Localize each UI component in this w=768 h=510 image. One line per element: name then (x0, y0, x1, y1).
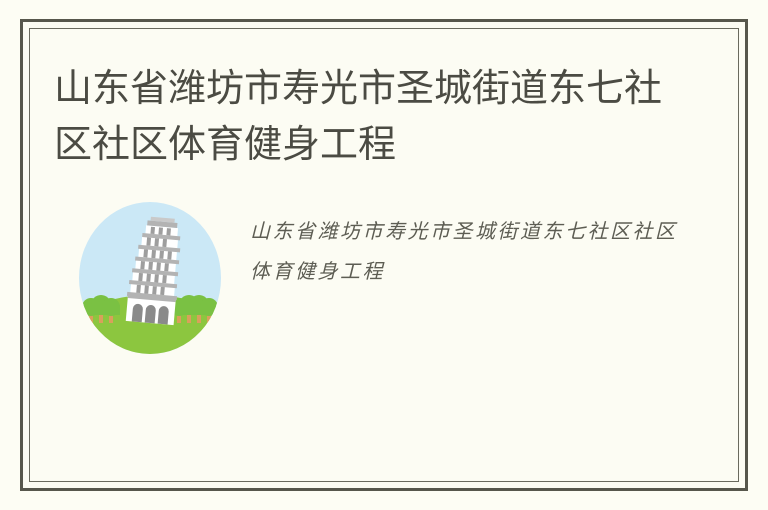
page-root: 山东省潍坊市寿光市圣城街道东七社区社区体育健身工程 (0, 0, 768, 510)
page-title: 山东省潍坊市寿光市圣城街道东七社区社区体育健身工程 (54, 61, 670, 173)
leaning-tower-landmark-icon (76, 199, 224, 357)
card-outer-frame: 山东省潍坊市寿光市圣城街道东七社区社区体育健身工程 (20, 19, 748, 491)
card-inner-frame: 山东省潍坊市寿光市圣城街道东七社区社区体育健身工程 (29, 28, 739, 482)
card-body: 山东省潍坊市寿光市圣城街道东七社区社区体育健身工程 (30, 29, 738, 481)
thumbnail-image (76, 199, 224, 357)
content-row: 山东省潍坊市寿光市圣城街道东七社区社区体育健身工程 (54, 197, 718, 367)
thumbnail-caption: 山东省潍坊市寿光市圣城街道东七社区社区体育健身工程 (250, 211, 680, 291)
